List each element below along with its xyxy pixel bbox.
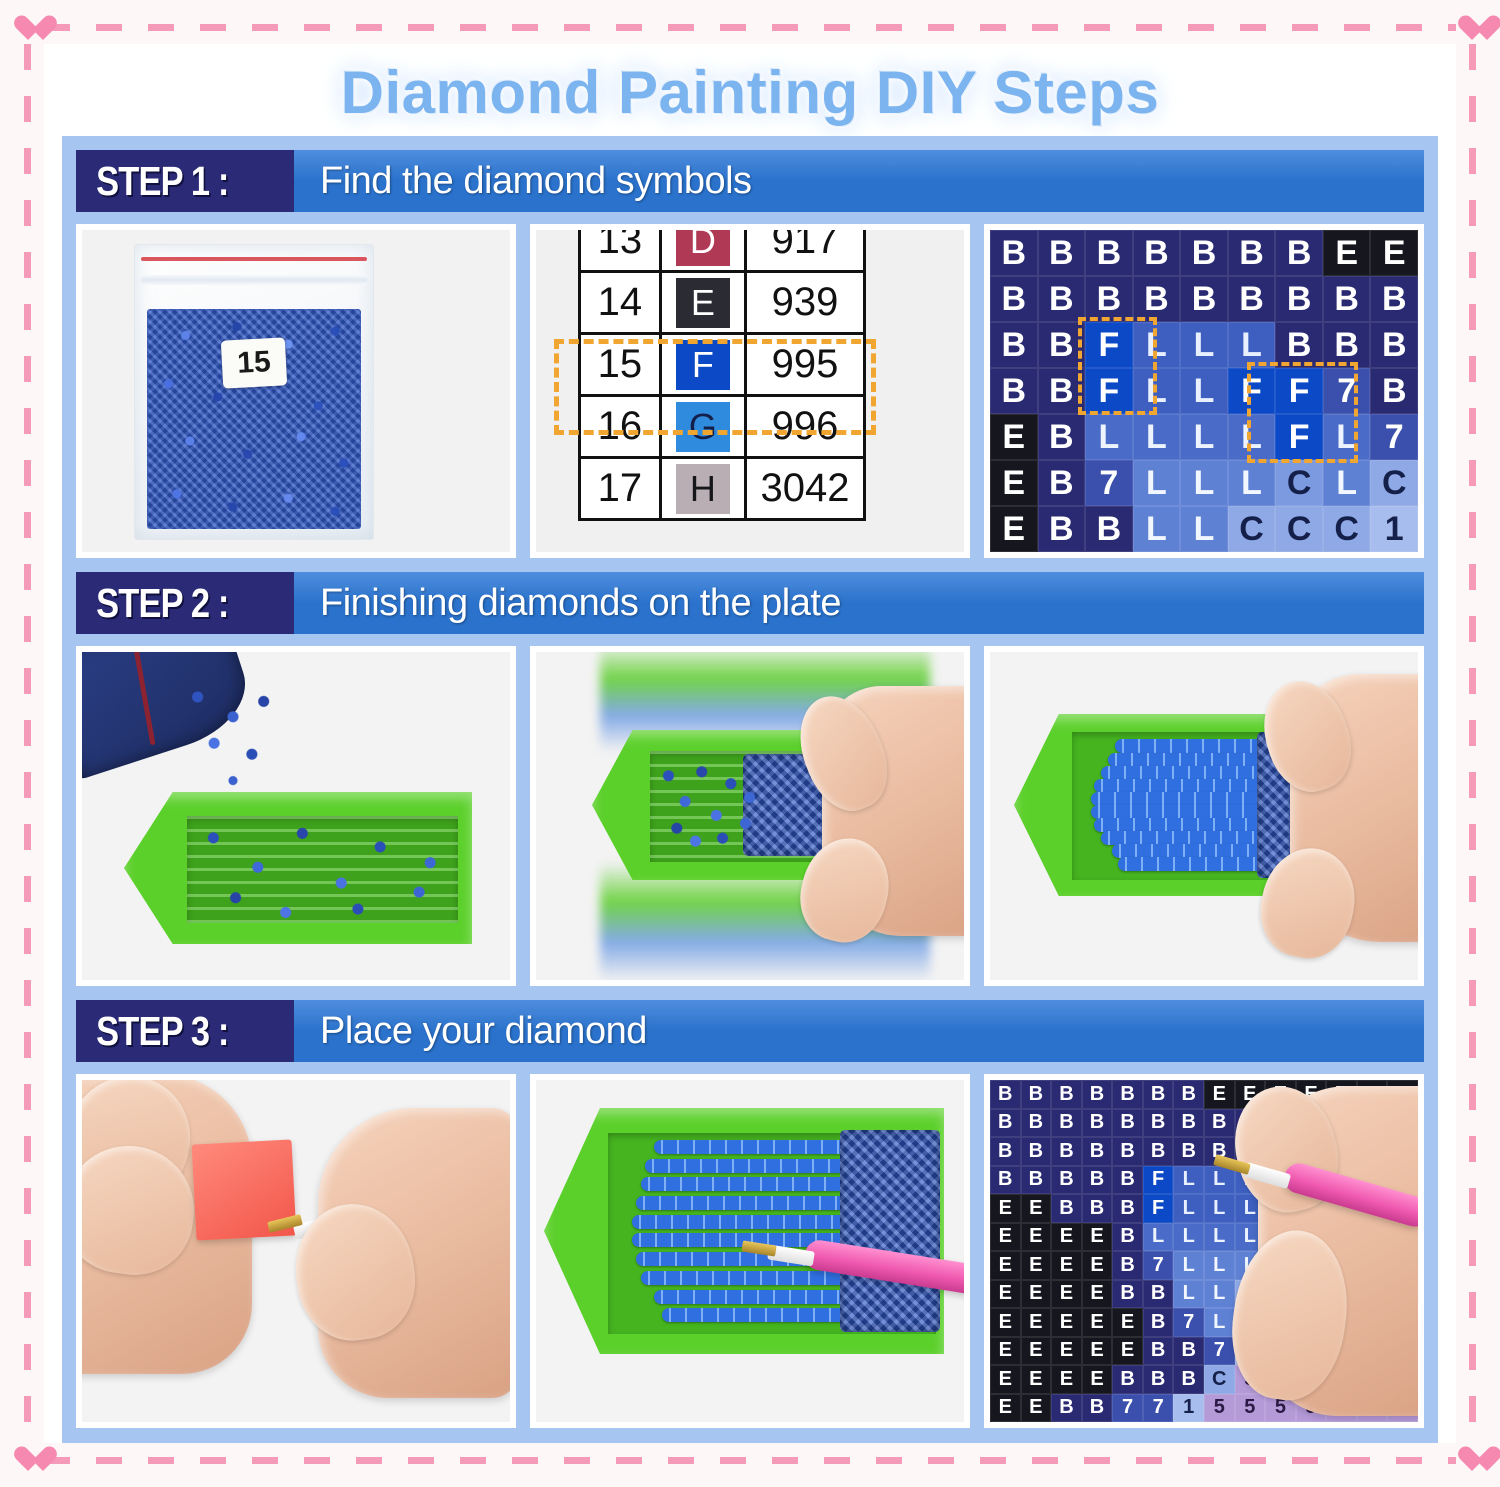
infographic-page: Diamond Painting DIY Steps STEP 1 : Find… [0, 0, 1500, 1487]
drill-row [662, 1308, 848, 1322]
dmc-symbol-swatch: H [676, 464, 730, 514]
symbol-cell: B [1204, 1109, 1235, 1138]
symbol-cell: L [1173, 1280, 1204, 1309]
symbol-cell: F [1228, 368, 1276, 414]
symbol-cell: B [1112, 1365, 1143, 1394]
symbol-cell: E [990, 414, 1038, 460]
frame-dash-left [24, 44, 31, 1443]
step-title-1: Find the diamond symbols [294, 150, 1424, 212]
drill-row [1101, 831, 1263, 845]
step-header-2: STEP 2 : Finishing diamonds on the plate [76, 572, 1424, 634]
symbol-cell: E [1112, 1308, 1143, 1337]
drill-row [1115, 739, 1264, 753]
symbol-cell: L [1228, 322, 1276, 368]
drill-row [645, 1159, 848, 1173]
symbol-cell: B [1143, 1365, 1174, 1394]
dmc-row-symbol: G [660, 396, 745, 458]
symbol-cell: B [1228, 276, 1276, 322]
symbol-cell: C [1370, 460, 1418, 506]
symbol-cell: B [1143, 1280, 1174, 1309]
panel-dmc-table: 13D91714E93915F99516G99617H3042 [530, 224, 970, 558]
panel-aligned-drills [984, 646, 1424, 986]
symbol-cell: E [1021, 1394, 1052, 1423]
symbol-cell: E [1051, 1308, 1082, 1337]
dmc-row-symbol: E [660, 272, 745, 334]
symbol-cell: B [1082, 1109, 1113, 1138]
symbol-cell: B [990, 1109, 1021, 1138]
symbol-cell: E [990, 1223, 1021, 1252]
drill-row [1101, 766, 1263, 780]
symbol-cell: B [1051, 1166, 1082, 1195]
symbol-cell: L [1323, 414, 1371, 460]
symbol-cell: B [1085, 276, 1133, 322]
symbol-cell: C [1228, 506, 1276, 552]
step-badge-wrap-1: STEP 1 : [76, 150, 294, 212]
symbol-cell: L [1228, 414, 1276, 460]
panel-shake-tray [530, 646, 970, 986]
wax-pad-photo [82, 1080, 510, 1422]
symbol-cell: L [1228, 460, 1276, 506]
dmc-row-code: 939 [745, 272, 864, 334]
step-3-panels: BBBBBBBEEEEEEEBBBBBBBBBEEBBEBBBBBBBBBBBB… [76, 1062, 1424, 1428]
pickup-drill-photo [536, 1080, 964, 1422]
symbol-cell: E [1323, 230, 1371, 276]
symbol-cell: B [1082, 1394, 1113, 1423]
symbol-cell: E [1051, 1223, 1082, 1252]
symbol-cell: B [1112, 1166, 1143, 1195]
drill-row [1091, 805, 1264, 819]
dmc-row-code: 3042 [745, 458, 864, 520]
drill-row [1094, 779, 1263, 793]
page-title: Diamond Painting DIY Steps [44, 52, 1456, 134]
symbol-cell: E [990, 1337, 1021, 1366]
dmc-row-code: 917 [745, 230, 864, 272]
symbol-cell: E [1051, 1365, 1082, 1394]
symbol-cell: B [1173, 1109, 1204, 1138]
dmc-row-code: 996 [745, 396, 864, 458]
drill-row [1091, 792, 1264, 806]
frame-dash-right [1469, 44, 1476, 1443]
symbol-cell: L [1133, 368, 1181, 414]
panel-place-on-canvas: BBBBBBBEEEEEEEBBBBBBBBBEEBBEBBBBBBBBBBBB… [984, 1074, 1424, 1428]
symbol-cell: C [1323, 506, 1371, 552]
dmc-row-number: 16 [580, 396, 661, 458]
symbol-cell: B [990, 368, 1038, 414]
symbol-cell: E [1082, 1308, 1113, 1337]
panel-pickup-drill [530, 1074, 970, 1428]
drill-heap [840, 1130, 940, 1332]
drill-row [1108, 753, 1264, 767]
symbol-cell: B [1370, 322, 1418, 368]
symbol-cell: C [1275, 506, 1323, 552]
step-title-2: Finishing diamonds on the plate [294, 572, 1424, 634]
symbol-cell: E [1082, 1337, 1113, 1366]
symbol-cell: B [1021, 1137, 1052, 1166]
symbol-cell: L [1173, 1166, 1204, 1195]
symbol-cell: B [1082, 1137, 1113, 1166]
heart-icon-bottom-right [1457, 1445, 1487, 1473]
symbol-cell: B [1180, 230, 1228, 276]
symbol-cell: B [1180, 276, 1228, 322]
symbol-cell: B [1143, 1308, 1174, 1337]
symbol-cell: B [990, 1137, 1021, 1166]
drill-row [654, 1140, 848, 1154]
scattered-drills [180, 813, 458, 926]
symbol-cell: L [1173, 1251, 1204, 1280]
ziplock-bag: 15 [134, 244, 374, 540]
symbol-cell: L [1180, 322, 1228, 368]
symbol-cell: E [1021, 1223, 1052, 1252]
symbol-cell: B [1021, 1109, 1052, 1138]
symbol-cell: E [1021, 1251, 1052, 1280]
symbol-cell: E [990, 460, 1038, 506]
symbol-cell: E [990, 506, 1038, 552]
drill-row [641, 1271, 848, 1285]
symbol-cell: L [1133, 322, 1181, 368]
symbol-cell: B [1228, 230, 1276, 276]
step-block-2: STEP 2 : Finishing diamonds on the plate [76, 572, 1424, 986]
dmc-symbol-swatch: G [676, 402, 730, 452]
symbol-cell: B [1112, 1137, 1143, 1166]
symbol-cell: E [1021, 1194, 1052, 1223]
symbol-cell: L [1180, 460, 1228, 506]
symbol-cell: B [1275, 230, 1323, 276]
table-row: 16G996 [580, 396, 865, 458]
symbol-cell: B [1173, 1137, 1204, 1166]
symbol-cell: B [1173, 1337, 1204, 1366]
dmc-symbol-swatch: F [676, 340, 730, 390]
symbol-cell: L [1180, 368, 1228, 414]
symbol-cell: E [990, 1394, 1021, 1423]
symbol-cell: 5 [1204, 1394, 1235, 1423]
symbol-cell: B [1112, 1251, 1143, 1280]
canvas-symbol-chart: BBBBBBBEEBBBBBBBBBBBFLLLBBBBBFLLFF7BEBLL… [990, 230, 1418, 552]
symbol-cell: L [1133, 460, 1181, 506]
dmc-row-symbol: D [660, 230, 745, 272]
symbol-cell: B [1038, 322, 1086, 368]
symbol-cell: B [990, 1166, 1021, 1195]
green-drill-tray [124, 792, 472, 944]
symbol-cell: L [1204, 1194, 1235, 1223]
symbol-cell: 7 [1323, 368, 1371, 414]
bag-photo: 15 [82, 230, 510, 552]
symbol-cell: B [1051, 1080, 1082, 1109]
symbol-cell: 7 [1204, 1337, 1235, 1366]
symbol-cell: E [1021, 1337, 1052, 1366]
symbol-cell: B [1051, 1109, 1082, 1138]
dmc-row-number: 15 [580, 334, 661, 396]
symbol-cell: F [1085, 322, 1133, 368]
symbol-cell: L [1143, 1223, 1174, 1252]
symbol-cell: E [990, 1308, 1021, 1337]
dmc-row-number: 13 [580, 230, 661, 272]
symbol-cell: F [1143, 1194, 1174, 1223]
symbol-cell: B [1082, 1194, 1113, 1223]
falling-drills [174, 686, 292, 796]
heart-icon-top-left [13, 14, 43, 42]
drill-rows [1091, 739, 1264, 870]
symbol-cell: B [1323, 276, 1371, 322]
symbol-cell: E [1021, 1308, 1052, 1337]
symbol-cell: L [1323, 460, 1371, 506]
symbol-cell: 1 [1370, 506, 1418, 552]
symbol-cell: E [990, 1365, 1021, 1394]
drill-row [654, 1290, 848, 1304]
table-row: 17H3042 [580, 458, 865, 520]
symbol-cell: F [1275, 368, 1323, 414]
symbol-cell: B [1082, 1080, 1113, 1109]
steps-container: STEP 1 : Find the diamond symbols [62, 136, 1438, 1443]
symbol-cell: L [1180, 506, 1228, 552]
symbol-cell: E [1082, 1251, 1113, 1280]
symbol-cell: B [1370, 368, 1418, 414]
symbol-cell: L [1133, 506, 1181, 552]
bag-zip-strip [141, 257, 367, 261]
symbol-cell: B [1038, 276, 1086, 322]
panel-drill-bag: 15 [76, 224, 516, 558]
table-row: 13D917 [580, 230, 865, 272]
heart-icon-bottom-left [13, 1445, 43, 1473]
dmc-row-code: 995 [745, 334, 864, 396]
drill-rows [632, 1140, 848, 1327]
symbol-cell: B [1143, 1109, 1174, 1138]
dmc-row-symbol: H [660, 458, 745, 520]
symbol-cell: E [990, 1280, 1021, 1309]
symbol-cell: L [1133, 414, 1181, 460]
symbol-cell: B [1112, 1080, 1143, 1109]
symbol-cell: 7 [1143, 1251, 1174, 1280]
dmc-row-symbol: F [660, 334, 745, 396]
symbol-cell: E [1021, 1365, 1052, 1394]
drill-row [636, 1196, 848, 1210]
symbol-cell: B [1051, 1137, 1082, 1166]
symbol-cell: B [990, 276, 1038, 322]
symbol-cell: 7 [1112, 1394, 1143, 1423]
symbol-cell: E [1051, 1337, 1082, 1366]
symbol-cell: B [1038, 230, 1086, 276]
dmc-row-number: 17 [580, 458, 661, 520]
symbol-cell: E [1082, 1280, 1113, 1309]
symbol-cell: 7 [1143, 1394, 1174, 1423]
canvas-symbol-chart: BBBBBBBEEEEEEEBBBBBBBBBEEBBEBBBBBBBBBBBB… [990, 1080, 1418, 1422]
symbol-cell: B [1112, 1194, 1143, 1223]
symbol-cell: B [990, 322, 1038, 368]
step-badge-3: STEP 3 : [76, 1008, 259, 1055]
symbol-cell: B [1112, 1223, 1143, 1252]
symbol-cell: B [1085, 230, 1133, 276]
symbol-cell: B [1112, 1109, 1143, 1138]
scattered-drills [656, 754, 760, 853]
symbol-cell: L [1085, 414, 1133, 460]
dmc-symbol-swatch: D [676, 230, 730, 266]
symbol-cell: B [1275, 322, 1323, 368]
step-header-1: STEP 1 : Find the diamond symbols [76, 150, 1424, 212]
symbol-cell: L [1204, 1223, 1235, 1252]
symbol-cell: E [990, 1194, 1021, 1223]
symbol-cell: B [1133, 230, 1181, 276]
drill-row [641, 1177, 848, 1191]
symbol-cell: B [1082, 1166, 1113, 1195]
symbol-cell: B [1038, 460, 1086, 506]
symbol-cell: B [1112, 1280, 1143, 1309]
symbol-cell: B [1133, 276, 1181, 322]
symbol-cell: C [1275, 460, 1323, 506]
step-block-1: STEP 1 : Find the diamond symbols [76, 150, 1424, 558]
step-header-3: STEP 3 : Place your diamond [76, 1000, 1424, 1062]
symbol-cell: E [1051, 1251, 1082, 1280]
content-card: Diamond Painting DIY Steps STEP 1 : Find… [44, 44, 1456, 1443]
symbol-cell: B [1051, 1194, 1082, 1223]
drill-row [1112, 844, 1264, 858]
symbol-cell: B [1173, 1365, 1204, 1394]
frame-dash-top [44, 24, 1456, 31]
dmc-row-number: 14 [580, 272, 661, 334]
symbol-cell: B [1143, 1080, 1174, 1109]
symbol-cell: E [1112, 1337, 1143, 1366]
symbol-cell: B [1038, 414, 1086, 460]
symbol-cell: L [1180, 414, 1228, 460]
heart-icon-top-right [1457, 14, 1487, 42]
table-row: 14E939 [580, 272, 865, 334]
panel-wax-pad [76, 1074, 516, 1428]
symbol-cell: E [1370, 230, 1418, 276]
symbol-cell: B [1143, 1137, 1174, 1166]
shake-tray-photo [536, 652, 964, 980]
symbol-cell: L [1173, 1194, 1204, 1223]
dmc-symbol-swatch: E [676, 278, 730, 328]
step-badge-wrap-3: STEP 3 : [76, 1000, 294, 1062]
symbol-cell: C [1204, 1365, 1235, 1394]
dmc-legend-table: 13D91714E93915F99516G99617H3042 [578, 230, 866, 521]
green-drill-tray [544, 1108, 944, 1354]
symbol-cell: L [1204, 1308, 1235, 1337]
aligned-drills-photo [990, 652, 1418, 980]
drill-row [1118, 857, 1263, 871]
step-badge-1: STEP 1 : [76, 158, 259, 205]
symbol-cell: F [1085, 368, 1133, 414]
symbol-grid-step1: BBBBBBBEEBBBBBBBBBBBFLLLBBBBBFLLFF7BEBLL… [990, 230, 1418, 552]
symbol-cell: F [1275, 414, 1323, 460]
symbol-cell: B [1173, 1080, 1204, 1109]
symbol-cell: F [1143, 1166, 1174, 1195]
symbol-cell: 7 [1085, 460, 1133, 506]
symbol-cell: B [1370, 276, 1418, 322]
symbol-cell: B [1085, 506, 1133, 552]
symbol-cell: L [1204, 1280, 1235, 1309]
frame-dash-bottom [44, 1457, 1456, 1464]
step-title-3: Place your diamond [294, 1000, 1424, 1062]
symbol-cell: E [1051, 1280, 1082, 1309]
symbol-cell: E [1082, 1365, 1113, 1394]
drill-row [632, 1215, 848, 1229]
symbol-cell: 7 [1370, 414, 1418, 460]
pour-drills-photo [82, 652, 510, 980]
symbol-cell: B [1275, 276, 1323, 322]
step-2-panels [76, 634, 1424, 986]
dmc-chart-photo: 13D91714E93915F99516G99617H3042 [536, 230, 964, 552]
symbol-cell: 5 [1235, 1394, 1266, 1423]
symbol-cell: B [1021, 1166, 1052, 1195]
symbol-cell: B [990, 230, 1038, 276]
symbol-cell: E [990, 1251, 1021, 1280]
panel-pour-drills [76, 646, 516, 986]
panel-canvas-symbols: BBBBBBBEEBBBBBBBBBBBFLLLBBBBBFLLFF7BEBLL… [984, 224, 1424, 558]
symbol-cell: 1 [1173, 1394, 1204, 1423]
symbol-cell: B [1323, 322, 1371, 368]
symbol-cell: 7 [1173, 1308, 1204, 1337]
table-row: 15F995 [580, 334, 865, 396]
bag-number-label: 15 [221, 337, 287, 388]
symbol-cell: E [1021, 1280, 1052, 1309]
bag-seal-strip [141, 275, 367, 285]
symbol-cell: E [1204, 1080, 1235, 1109]
step-badge-wrap-2: STEP 2 : [76, 572, 294, 634]
drill-row [1094, 818, 1263, 832]
symbol-cell: L [1204, 1251, 1235, 1280]
symbol-cell: B [1051, 1394, 1082, 1423]
symbol-cell: L [1173, 1223, 1204, 1252]
step-badge-2: STEP 2 : [76, 580, 259, 627]
symbol-cell: B [1143, 1337, 1174, 1366]
symbol-cell: B [1038, 506, 1086, 552]
symbol-cell: B [1021, 1080, 1052, 1109]
symbol-cell: E [1082, 1223, 1113, 1252]
symbol-cell: B [990, 1080, 1021, 1109]
step-1-panels: 15 13D91714E93915F99516G99617H3042 [76, 212, 1424, 558]
step-block-3: STEP 3 : Place your diamond [76, 1000, 1424, 1428]
symbol-cell: B [1038, 368, 1086, 414]
